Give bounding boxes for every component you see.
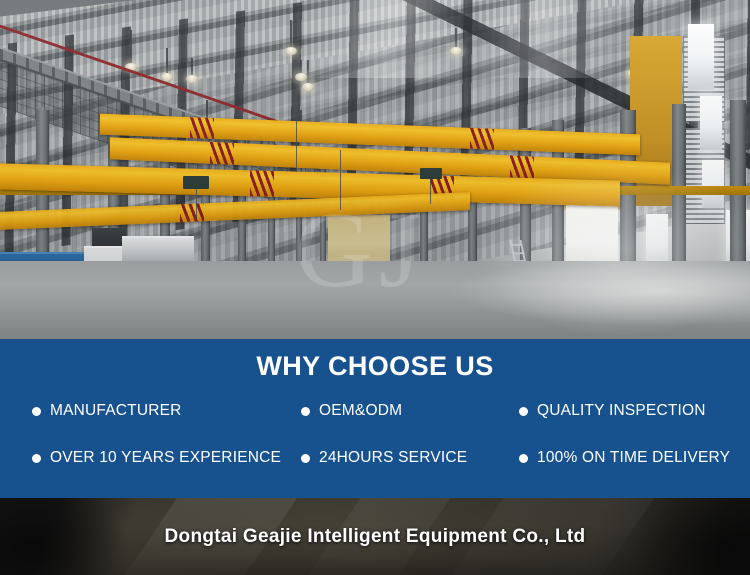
feature-item-experience: OVER 10 YEARS EXPERIENCE	[32, 449, 281, 467]
band-title: WHY CHOOSE US	[0, 351, 750, 382]
bullet-dot-icon	[32, 407, 41, 416]
bullet-dot-icon	[519, 454, 528, 463]
factory-floor	[0, 261, 750, 339]
factory-photo: GJ	[0, 0, 750, 339]
crane-warning-stripe	[190, 117, 214, 139]
feature-label: OEM&ODM	[319, 402, 402, 420]
bullet-dot-icon	[301, 407, 310, 416]
feature-item-24hours-service: 24HOURS SERVICE	[301, 449, 467, 467]
feature-label: 24HOURS SERVICE	[319, 449, 467, 467]
crane-warning-stripe	[180, 203, 204, 222]
floor-reflection	[0, 0, 750, 78]
bullet-dot-icon	[301, 454, 310, 463]
feature-list: MANUFACTURER OEM&ODM QUALITY INSPECTION …	[0, 397, 750, 495]
crane-cable	[296, 120, 297, 172]
feature-item-manufacturer: MANUFACTURER	[32, 402, 182, 420]
company-name: Dongtai Geajie Intelligent Equipment Co.…	[0, 498, 750, 575]
feature-item-on-time-delivery: 100% ON TIME DELIVERY	[519, 449, 730, 467]
crane-warning-stripe	[510, 155, 534, 178]
bullet-dot-icon	[519, 407, 528, 416]
crane-warning-stripe	[210, 142, 234, 165]
feature-item-quality-inspection: QUALITY INSPECTION	[519, 402, 706, 420]
crane-cable	[196, 188, 197, 218]
crane-warning-stripe	[250, 170, 274, 197]
crane-cable	[340, 150, 341, 210]
why-choose-us-band: WHY CHOOSE US MANUFACTURER OEM&ODM QUALI…	[0, 339, 750, 498]
feature-label: OVER 10 YEARS EXPERIENCE	[50, 449, 281, 467]
crane-cable	[430, 178, 431, 204]
crane-warning-stripe	[470, 128, 494, 150]
feature-label: 100% ON TIME DELIVERY	[537, 449, 730, 467]
bullet-dot-icon	[32, 454, 41, 463]
feature-label: QUALITY INSPECTION	[537, 402, 706, 420]
crane-hoist-trolley	[420, 168, 442, 179]
feature-item-oem-odm: OEM&ODM	[301, 402, 402, 420]
company-footer: Dongtai Geajie Intelligent Equipment Co.…	[0, 498, 750, 575]
cnc-machine-extension	[122, 236, 194, 262]
feature-label: MANUFACTURER	[50, 402, 182, 420]
product-banner: GJ WHY CHOOSE US MANUFACTURER OEM&ODM QU…	[0, 0, 750, 575]
